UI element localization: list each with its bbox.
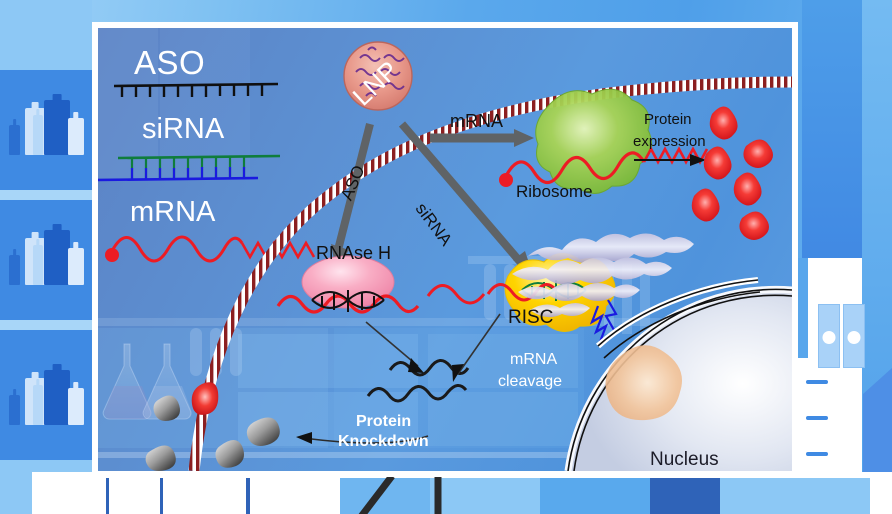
drawer-1[interactable] xyxy=(798,368,862,406)
binder-left[interactable] xyxy=(818,304,840,368)
shelf-board-1 xyxy=(0,190,92,200)
arrow-sirna-to-risc xyxy=(402,124,534,278)
shelf-board-2 xyxy=(0,320,92,330)
drawer-2[interactable] xyxy=(798,404,862,442)
binder-hole-icon xyxy=(823,331,836,344)
drawer-handle-2[interactable] xyxy=(806,416,828,420)
bottle-large xyxy=(44,230,70,285)
bottle-small xyxy=(9,125,20,155)
label-nucleus: Nucleus xyxy=(650,450,719,469)
cytoplasm: ASO siRNA mRNA LNP mRNA Ribosome Protein… xyxy=(98,28,792,471)
label-risc: RISC xyxy=(508,308,553,327)
bottle-slim xyxy=(33,385,43,425)
label-ribosome: Ribosome xyxy=(516,183,593,200)
bottle-slim xyxy=(33,115,43,155)
figure-canvas: ASO siRNA mRNA LNP mRNA Ribosome Protein… xyxy=(0,0,892,514)
rnase-h-complex xyxy=(278,256,418,312)
sirna-legend-duplex xyxy=(98,156,280,180)
legend-label-mrna: mRNA xyxy=(130,198,215,227)
bottle-slim xyxy=(33,245,43,285)
label-protein-knockdown-2: Knockdown xyxy=(338,434,429,450)
label-rnase-h: RNAse H xyxy=(316,244,391,262)
bottle-small xyxy=(9,395,20,425)
expressed-proteins xyxy=(692,106,773,240)
label-protein-knockdown-1: Protein xyxy=(356,414,411,430)
label-mrna-arrow: mRNA xyxy=(450,112,503,130)
label-mrna-cleavage-2: cleavage xyxy=(498,374,562,390)
pathway-artwork xyxy=(98,28,792,471)
bottle-right xyxy=(68,248,84,285)
label-protein-expression-2: expression xyxy=(633,134,706,149)
binder-right[interactable] xyxy=(843,304,865,368)
legend-label-sirna: siRNA xyxy=(142,115,224,144)
protein-knockdown-fragments xyxy=(146,382,280,471)
bottle-small xyxy=(9,255,20,285)
diagram-panel: ASO siRNA mRNA LNP mRNA Ribosome Protein… xyxy=(92,22,798,477)
bottle-large xyxy=(44,370,70,425)
drawer-handle-3[interactable] xyxy=(806,452,828,456)
aso-legend-strand xyxy=(114,84,278,97)
cabinet-side xyxy=(798,258,808,358)
bottle-large xyxy=(44,100,70,155)
binder-hole-icon xyxy=(848,331,861,344)
legend-label-aso: ASO xyxy=(134,46,205,79)
left-shelf-unit xyxy=(0,0,92,514)
bottle-right xyxy=(68,388,84,425)
shelf-back-0 xyxy=(0,0,92,70)
arrow-risc-to-cleavage xyxy=(452,314,500,382)
label-mrna-cleavage-1: mRNA xyxy=(510,352,557,368)
label-protein-expression-1: Protein xyxy=(644,112,692,127)
bottle-right xyxy=(68,118,84,155)
drawer-handle-1[interactable] xyxy=(806,380,828,384)
